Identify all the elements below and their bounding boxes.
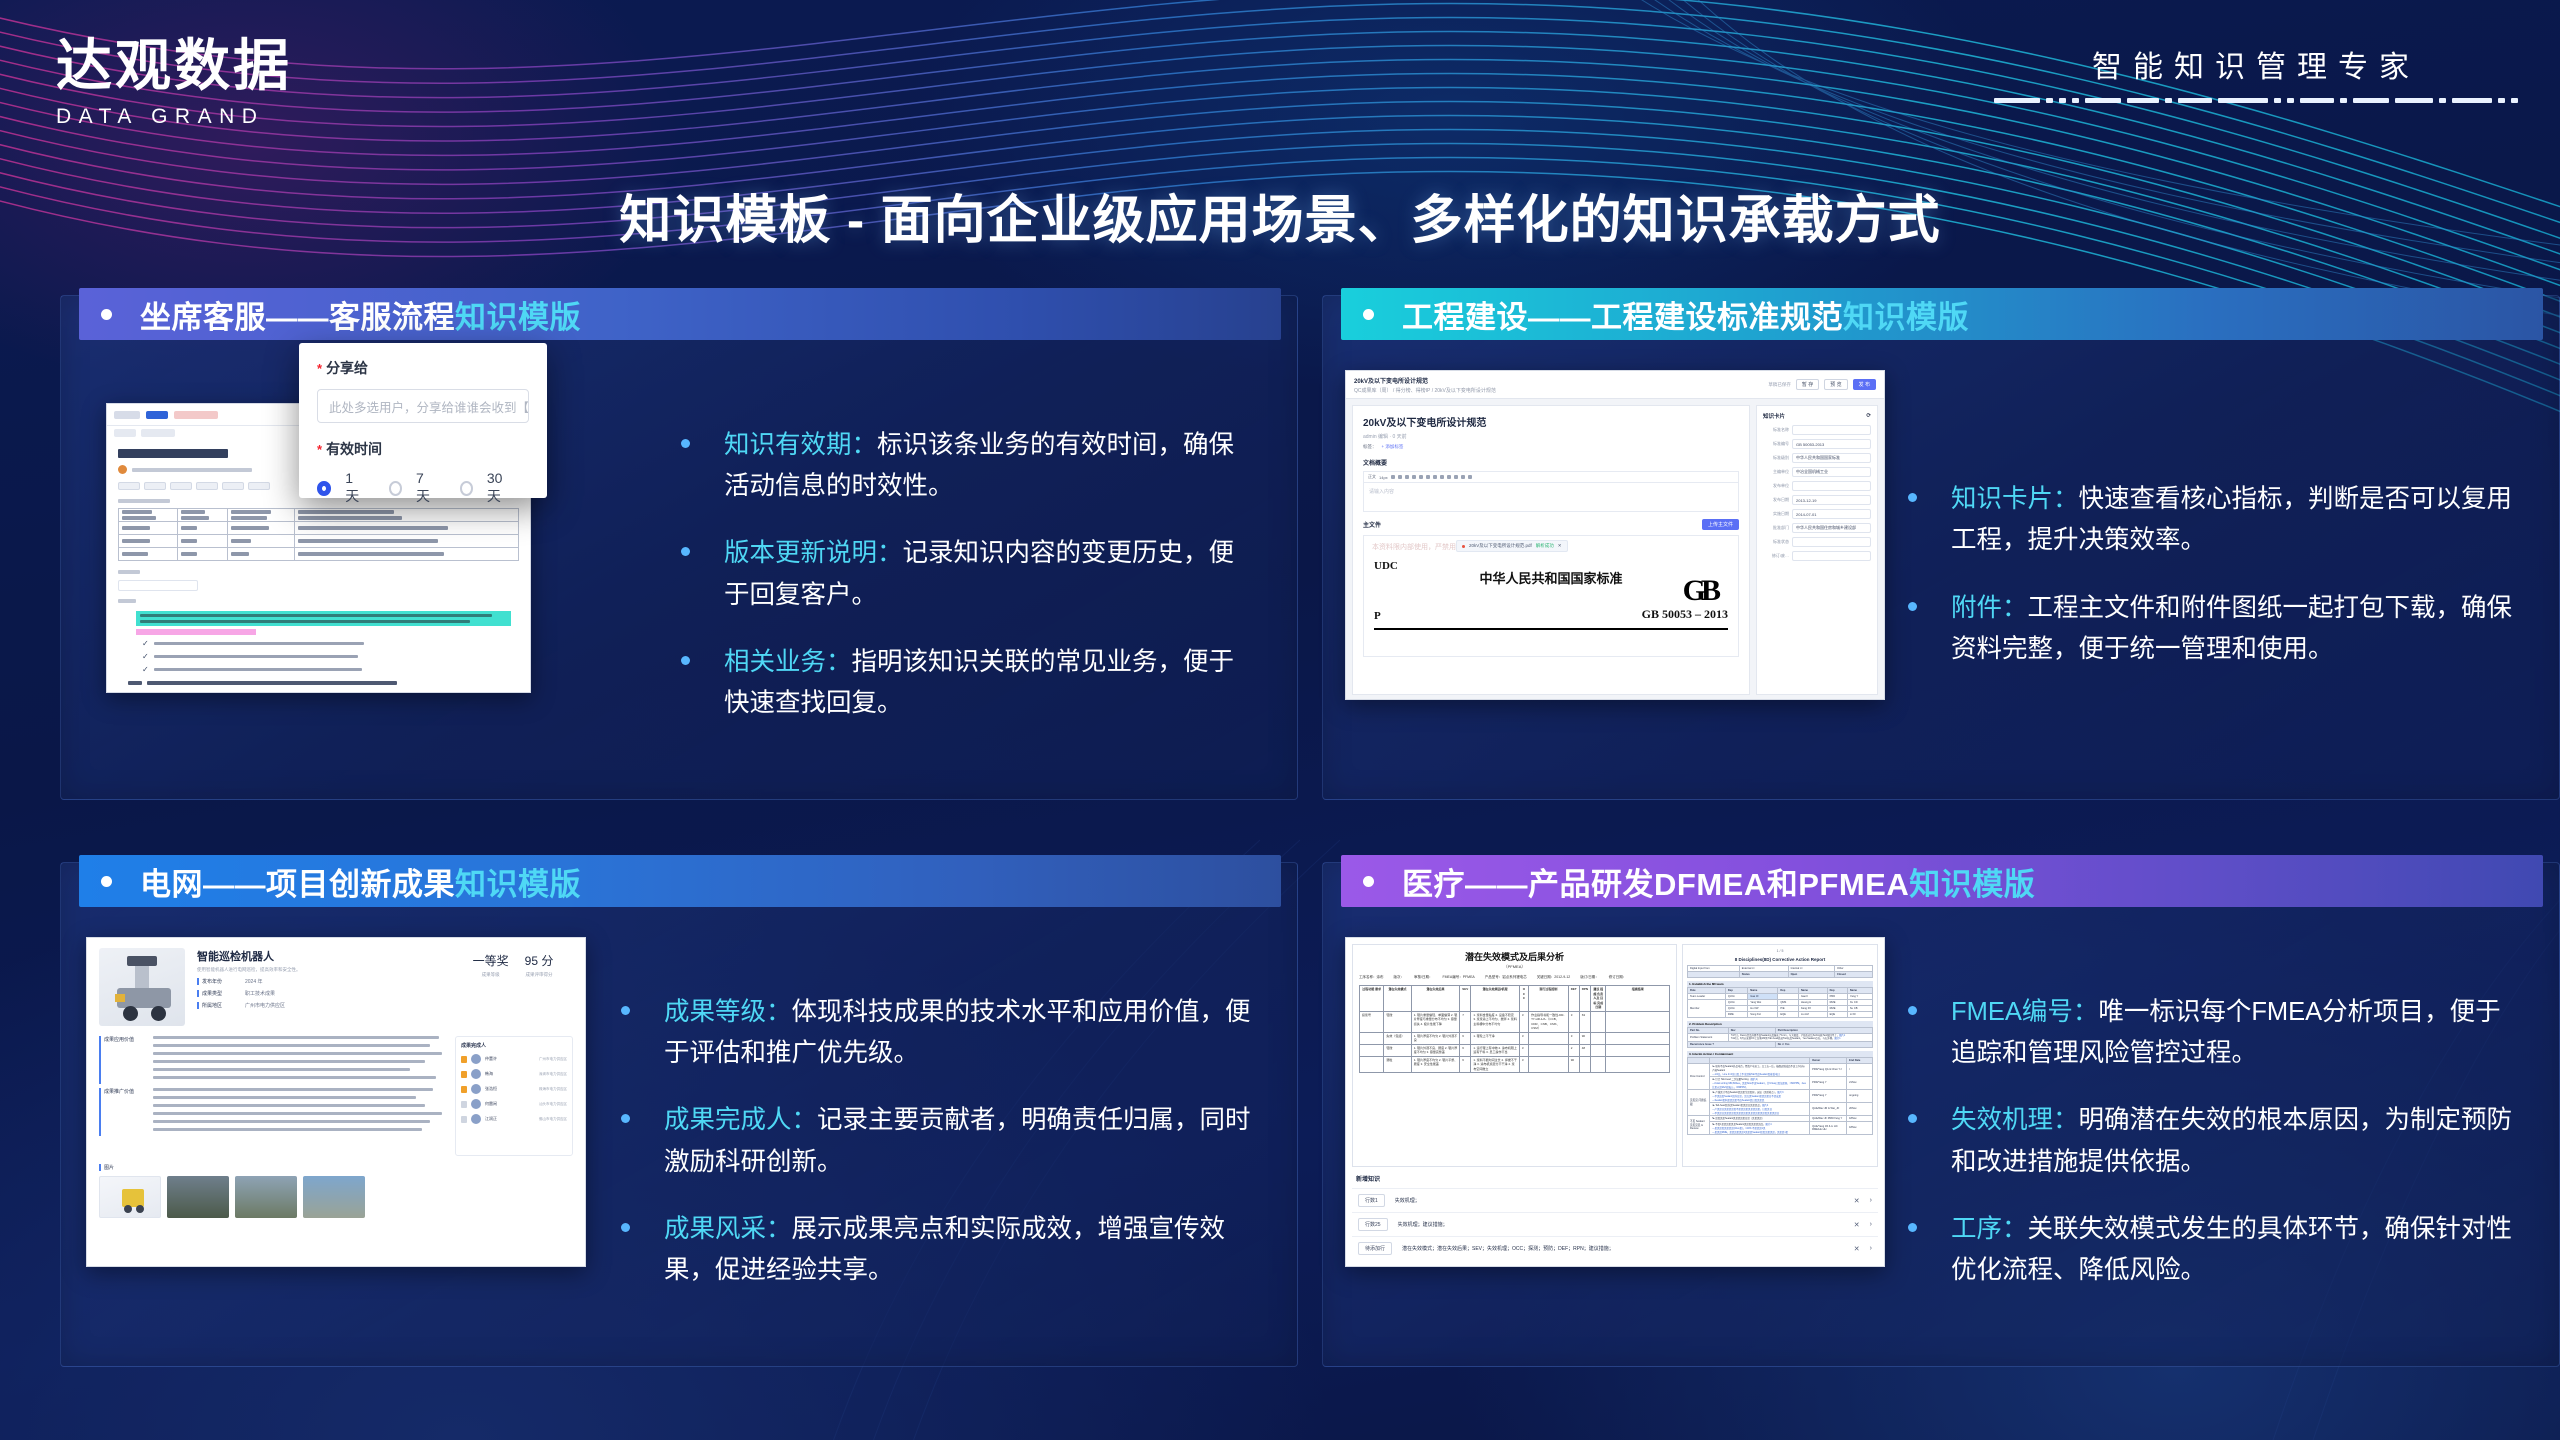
rank-badge-icon <box>461 1116 467 1123</box>
contributor-org: 汕头市电力供应区 <box>539 1102 567 1107</box>
duration-radio-group[interactable]: 1 天 7 天 30 天 <box>317 470 529 506</box>
panel-2-bullets: 知识卡片：快速查看核心指标，判断是否可以复用工程，提升决策效率。 附件：工程主文… <box>1908 348 2559 801</box>
panel-seat-service: 坐席客服——客服流程知识模版 <box>60 295 1298 800</box>
contributor-row: 何雷闲汕头市电力供应区 <box>461 1099 567 1109</box>
remove-row-icon[interactable]: ✕ <box>1854 1197 1860 1205</box>
achievement-title: 智能巡检机器人 <box>197 948 441 964</box>
highlighted-paragraph <box>136 611 511 626</box>
panel-2-screenshot: 20kV及以下变电所设计规范 QC成果库（周） / 得分榜、得榜IP / 20k… <box>1323 348 1908 801</box>
toolbar-table-icon[interactable] <box>1454 475 1458 479</box>
row-value: 潜在失效模式；潜在失效后果；SEV；失效机理；OCC；探测；预防；DEF；RPN… <box>1402 1245 1844 1252</box>
robot-photo <box>99 948 185 1026</box>
avatar <box>471 1114 481 1124</box>
rank-badge-icon <box>461 1086 467 1093</box>
radio-1day-label[interactable]: 1 天 <box>345 470 367 506</box>
bullet-item: 知识有效期：标识该条业务的有效时间，确保活动信息的时效性。 <box>681 425 1251 508</box>
radio-1day-icon[interactable] <box>317 481 331 496</box>
field-value[interactable]: 中冶全国机械工业 <box>1792 467 1871 477</box>
panel-power-grid: 电网——项目创新成果知识模版 智能巡检机器人 使用智能机器人进行电网巡检，提 <box>60 862 1298 1367</box>
knowledge-card-title: 知识卡片 <box>1763 412 1785 420</box>
remove-row-icon[interactable]: ✕ <box>1854 1221 1860 1229</box>
meta-value: 2024 年 <box>245 978 263 985</box>
highlighted-paragraph-pink <box>136 629 256 635</box>
pdf-category-letter: P <box>1374 610 1381 622</box>
toolbar-strike-icon[interactable] <box>1412 475 1416 479</box>
add-knowledge-title: 新增知识 <box>1356 1174 1878 1183</box>
rank-badge-icon <box>461 1101 467 1108</box>
duration-label: * 有效时间 <box>317 439 529 459</box>
panel-2-header-bullet-icon <box>1363 309 1374 320</box>
bullet-item: 工序：关联失效模式发生的具体环节，确保针对性优化流程、降低风险。 <box>1908 1209 2525 1292</box>
avatar <box>471 1069 481 1079</box>
toolbar-align-icon[interactable] <box>1440 475 1444 479</box>
toolbar-underline-icon[interactable] <box>1405 475 1409 479</box>
contributor-name: 仲董许 <box>485 1056 497 1062</box>
pfmea-meta: 工序名称：涂布版次： 审核/日期：FMEA编号：PFMEA 产品型号：铝点系列锂… <box>1359 975 1670 980</box>
bullet-item: FMEA编号：唯一标识每个FMEA分析项目，便于追踪和管理风险管控过程。 <box>1908 992 2525 1075</box>
bullet-item: 附件：工程主文件和附件图纸一起打包下载，确保资料完整，便于统一管理和使用。 <box>1908 588 2519 671</box>
row-tag[interactable]: 行数25 <box>1358 1218 1388 1231</box>
value-block: 成果应用价值 <box>99 1036 445 1084</box>
grade-value: 一等奖 <box>473 952 509 969</box>
8d-action-table: OwnerEnd Date Flow Control1▸ 现有不良Sealant… <box>1687 1057 1873 1135</box>
bullet-dot-icon <box>1908 1223 1917 1232</box>
contributor-row: 韩海深圳市电力供应区 <box>461 1069 567 1079</box>
field-value[interactable]: 2013-12-19 <box>1792 495 1871 505</box>
8d-report-sheet: 1 / 5 8 Disciplines(8D) Corrective Actio… <box>1682 944 1878 1167</box>
doc-title-placeholder <box>118 449 228 458</box>
meta-value: 广州市电力供应区 <box>245 1002 285 1009</box>
field-value[interactable] <box>1792 537 1871 547</box>
bullet-dot-icon <box>1908 1006 1917 1015</box>
promotion-block: 成果推广价值 <box>99 1088 445 1136</box>
field-value[interactable]: GB 50053-2013 <box>1792 439 1871 449</box>
8d-problem-table: Part No.RevPart Description Problem Stat… <box>1687 1027 1873 1048</box>
knowledge-row: 行数25 失效机理；建议措施； ✕ › <box>1352 1212 1878 1236</box>
panel-4-header: 医疗——产品研发DFMEA和PFMEA知识模版 <box>1341 855 2543 907</box>
panel-1-header: 坐席客服——客服流程知识模版 <box>79 288 1281 340</box>
panel-2-header: 工程建设——工程建设标准规范知识模版 <box>1341 288 2543 340</box>
contributor-org: 珠海市电力供应区 <box>539 1087 567 1092</box>
page-indicator[interactable]: 1 / 5 <box>1687 949 1873 953</box>
bullet-dot-icon <box>1908 1114 1917 1123</box>
add-tag-button[interactable]: + 添加标签 <box>1382 444 1404 450</box>
table-row: 轻微 1. 辊片外观不良、颗度 2. 辊片厚度不均匀 3. 容量完整差6 1. … <box>1360 1044 1670 1056</box>
bullet-dot-icon <box>621 1114 630 1123</box>
field-value[interactable]: 中华人民共和国住房和城乡建设部 <box>1792 523 1871 533</box>
panel-engineering: 工程建设——工程建设标准规范知识模版 20kV及以下变电所设计规范 QC成果库（… <box>1322 295 2560 800</box>
tagline-decoration <box>1994 98 2518 103</box>
panel-1-bullets: 知识有效期：标识该条业务的有效时间，确保活动信息的时效性。 版本更新说明：记录知… <box>681 348 1297 801</box>
score-label: 成果评审得分 <box>525 972 554 978</box>
toolbar-image-icon[interactable] <box>1447 475 1451 479</box>
bullet-dot-icon <box>1908 493 1917 502</box>
tagline-block: 智能知识管理专家 <box>1994 42 2518 103</box>
toolbar-emoji-icon[interactable] <box>1468 475 1472 479</box>
required-asterisk-icon-2: * <box>317 442 322 457</box>
bullet-dot-icon <box>1908 602 1917 611</box>
radio-30day-icon[interactable] <box>460 481 473 496</box>
document-meta: admin 编辑 · 0 天前 <box>1363 433 1739 440</box>
field-label: 实施日期 <box>1763 511 1789 517</box>
rank-badge-icon <box>461 1071 467 1078</box>
radio-7day-icon[interactable] <box>389 481 402 496</box>
contributor-name: 江润正 <box>485 1116 497 1122</box>
8d-team-table: RoleDepNameDepNameDepName Team LeaderQA'… <box>1687 987 1873 1018</box>
field-label: 主编单位 <box>1763 469 1789 475</box>
bullet-dot-icon <box>681 547 690 556</box>
contributor-org: 佛山市电力供应区 <box>539 1117 567 1122</box>
bullet-item: 成果风采：展示成果亮点和实际成效，增强宣传效果，促进经验共享。 <box>621 1209 1251 1292</box>
contributor-row: 江润正佛山市电力供应区 <box>461 1114 567 1124</box>
version-history-table <box>118 508 519 561</box>
bullet-item: 成果完成人：记录主要贡献者，明确责任归属，同时激励科研创新。 <box>621 1100 1251 1183</box>
8d-report-title: 8 Disciplines(8D) Corrective Action Repo… <box>1687 957 1873 962</box>
panel-medical-fmea: 医疗——产品研发DFMEA和PFMEA知识模版 潜在失效模式及后果分析 （PFM… <box>1322 862 2560 1367</box>
bullet-dot-icon <box>621 1223 630 1232</box>
document-heading: 20kV及以下变电所设计规范 <box>1363 414 1739 429</box>
share-to-label: * 分享给 <box>317 358 529 378</box>
table-row: 投浆号轻微 1. 辊片重量偏轻、单面偏薄 2. 辊片厚度与重量分布不均匀 3. … <box>1360 1011 1670 1032</box>
achievement-subtitle: 使用智能机器人进行电网巡检，提高效率和安全性。 <box>197 967 441 973</box>
meta-label: 所属地区 <box>197 1002 237 1009</box>
block-lines <box>153 1036 445 1084</box>
toolbar-font-size[interactable]: 14px <box>1379 475 1388 480</box>
bullet-item: 相关业务：指明该知识关联的常见业务，便于快速查找回复。 <box>681 642 1251 725</box>
contributor-org: 广州市电力供应区 <box>539 1057 567 1062</box>
brand-name-en: DATA GRAND <box>56 105 292 129</box>
gb-logo-icon: GB <box>1683 574 1716 608</box>
block-label: 成果应用价值 <box>99 1036 145 1084</box>
panel-1-header-bullet-icon <box>101 309 112 320</box>
8d-header-table: Digital Input fromExternal ☑Internal ☑Ot… <box>1687 965 1873 978</box>
contributor-org: 深圳市电力供应区 <box>539 1072 567 1077</box>
share-dialog[interactable]: * 分享给 此处多选用户，分享给谁谁会收到【知... * 有效时间 1 天 7 … <box>299 343 547 498</box>
editor-doc-title: 20kV及以下变电所设计规范 <box>1354 376 1496 385</box>
knowledge-row: 待添加行 潜在失效模式；潜在失效后果；SEV；失效机理；OCC；探测；预防；DE… <box>1352 1236 1878 1260</box>
toolbar-italic-icon[interactable] <box>1398 475 1402 479</box>
panel-4-screenshot: 潜在失效模式及后果分析 （PFMEA） 工序名称：涂布版次： 审核/日期：FME… <box>1323 915 1908 1368</box>
contributor-name: 韩海 <box>485 1071 493 1077</box>
panel-2-header-text: 工程建设——工程建设标准规范知识模版 <box>1402 292 1969 337</box>
meta-label: 成果类型 <box>197 990 237 997</box>
editor-document-pane: 20kV及以下变电所设计规范 admin 编辑 · 0 天前 标签： + 添加标… <box>1352 405 1750 695</box>
fmea-document-page: 潜在失效模式及后果分析 （PFMEA） 工序名称：涂布版次： 审核/日期：FME… <box>1345 937 1885 1267</box>
save-draft-button[interactable]: 暂 存 <box>1796 379 1819 390</box>
grade-label: 成果等级 <box>473 972 509 978</box>
editor-breadcrumb: QC成果库（周） / 得分榜、得榜IP / 20kV及以下变电所设计规范 <box>1354 387 1496 394</box>
bullet-item: 知识卡片：快速查看核心指标，判断是否可以复用工程，提升决策效率。 <box>1908 479 2519 562</box>
rich-text-toolbar[interactable]: 正文 14px <box>1363 471 1739 482</box>
pdf-divider <box>1374 628 1728 630</box>
block-label: 成果推广价值 <box>99 1088 145 1136</box>
toolbar-bold-icon[interactable] <box>1391 475 1395 479</box>
mainfile-section-title: 主文件 <box>1363 520 1381 529</box>
brand-logo: 达观数据 DATA GRAND <box>56 38 292 129</box>
table-row: 颗粒 1. 辊片厚度不均匀 2. 辊片平整、颗度 3. 安全性能差6 1. 浆料… <box>1360 1056 1670 1073</box>
contributor-name: 何雷闲 <box>485 1101 497 1107</box>
rank-badge-icon <box>461 1056 467 1063</box>
toolbar-highlight-icon[interactable] <box>1426 475 1430 479</box>
contributors-card: 成果完成人 仲董许广州市电力供应区 韩海深圳市电力供应区 张浩恒珠海市电力供应区… <box>455 1036 573 1156</box>
table-row: 失效（包括） 1. 辊片厚度不均匀 2. 辊片外观不良6 1. 辊轮上不干净3 … <box>1360 1032 1670 1044</box>
knowledge-row: 行数1 失效机理； ✕ › <box>1352 1188 1878 1212</box>
toolbar-font-style[interactable]: 正文 <box>1368 474 1376 480</box>
required-asterisk-icon: * <box>317 361 322 376</box>
pfmea-title: 潜在失效模式及后果分析 <box>1359 950 1670 963</box>
expand-row-icon[interactable]: › <box>1870 1197 1872 1204</box>
field-value[interactable] <box>1792 481 1871 491</box>
pfmea-table: 过程功能 要求 潜在失效模式 潜在失效后果 SEV 潜在失效原因/机理 O C … <box>1359 985 1670 1073</box>
bullet-item: 版本更新说明：记录知识内容的变更历史，便于回复客户。 <box>681 533 1251 616</box>
gallery-image-substation-1[interactable] <box>167 1176 229 1218</box>
field-label: 发布日期 <box>1763 497 1789 503</box>
pdf-standard-title: 中华人民共和国国家标准 <box>1374 568 1728 587</box>
gallery-image-substation-3[interactable] <box>303 1176 365 1218</box>
avatar <box>471 1084 481 1094</box>
attached-file-name: 20kV及以下变电所设计规范.pdf <box>1469 543 1532 549</box>
contributor-row: 仲董许广州市电力供应区 <box>461 1054 567 1064</box>
row-value: 失效机理； <box>1395 1197 1844 1204</box>
block-lines <box>153 1088 445 1136</box>
field-label: 标准编号 <box>1763 441 1789 447</box>
expand-row-icon[interactable]: › <box>1870 1245 1872 1252</box>
bullet-item: 失效机理：明确潜在失效的根本原因，为制定预防和改进措施提供依据。 <box>1908 1100 2525 1183</box>
tagline-text: 智能知识管理专家 <box>1994 42 2518 86</box>
bullet-dot-icon <box>681 439 690 448</box>
publish-button[interactable]: 发 布 <box>1853 379 1876 390</box>
editor-topbar: 20kV及以下变电所设计规范 QC成果库（周） / 得分榜、得榜IP / 20k… <box>1346 371 1884 399</box>
panel-4-bullets: FMEA编号：唯一标识每个FMEA分析项目，便于追踪和管理风险管控过程。 失效机… <box>1908 915 2559 1368</box>
field-label: 标准名称 <box>1763 427 1789 433</box>
field-value[interactable]: 中华人民共和国国家标准 <box>1792 453 1871 463</box>
panel-3-bullets: 成果等级：体现科技成果的技术水平和应用价值，便于评估和推广优先级。 成果完成人：… <box>621 915 1297 1368</box>
radio-30day-label[interactable]: 30 天 <box>487 470 515 506</box>
meta-label: 发布年份 <box>197 978 237 985</box>
table-header-row: 过程功能 要求 潜在失效模式 潜在失效后果 SEV 潜在失效原因/机理 O C … <box>1360 986 1670 1012</box>
autosave-status: 草稿已保存 <box>1768 382 1791 388</box>
field-label: 标准级别 <box>1763 455 1789 461</box>
editor-content-area[interactable]: 请输入内容 <box>1363 482 1739 512</box>
pdf-preview: 本资料限内部使用，严禁用于商业。 20kV及以下变电所设计规范.pdf 解析成功… <box>1363 535 1739 657</box>
field-value[interactable] <box>1792 551 1871 561</box>
field-value[interactable]: 2014-07-01 <box>1792 509 1871 519</box>
pfmea-subtitle: （PFMEA） <box>1359 964 1670 970</box>
row-tag[interactable]: 待添加行 <box>1358 1242 1392 1255</box>
row-tag[interactable]: 行数1 <box>1358 1194 1385 1207</box>
remove-file-icon[interactable]: ✕ <box>1558 543 1562 549</box>
field-label: 批准部门 <box>1763 525 1789 531</box>
summary-section-title: 文档概要 <box>1363 458 1739 467</box>
knowledge-card-panel: 知识卡片 ⟳ 标准名称 标准编号GB 50053-2013 标准级别中华人民共和… <box>1756 405 1878 695</box>
pdf-file-icon <box>1462 545 1465 548</box>
score-value: 95 分 <box>525 952 554 969</box>
row-value: 失效机理；建议措施； <box>1398 1221 1844 1228</box>
panel-4-header-text: 医疗——产品研发DFMEA和PFMEA知识模版 <box>1402 859 2035 904</box>
gallery-image-diagram[interactable] <box>99 1176 161 1218</box>
panel-3-header-bullet-icon <box>101 876 112 887</box>
bullet-item: 成果等级：体现科技成果的技术水平和应用价值，便于评估和推广优先级。 <box>621 992 1251 1075</box>
expand-row-icon[interactable]: › <box>1870 1221 1872 1228</box>
bullet-dot-icon <box>621 1006 630 1015</box>
bullet-dot-icon <box>681 656 690 665</box>
field-label: 发布单位 <box>1763 483 1789 489</box>
remove-row-icon[interactable]: ✕ <box>1854 1245 1860 1253</box>
field-value[interactable] <box>1792 425 1871 435</box>
gallery-label: 图片 <box>99 1164 573 1171</box>
preview-button[interactable]: 预 览 <box>1824 379 1847 390</box>
toolbar-color-icon[interactable] <box>1419 475 1423 479</box>
tag-label: 标签： <box>1363 444 1377 450</box>
brand-name-cn: 达观数据 <box>56 38 292 97</box>
toolbar-link-icon[interactable] <box>1461 475 1465 479</box>
pfmea-sheet: 潜在失效模式及后果分析 （PFMEA） 工序名称：涂布版次： 审核/日期：FME… <box>1352 944 1677 1167</box>
field-label: 标准状态 <box>1763 539 1789 545</box>
innovation-achievement-page: 智能巡检机器人 使用智能机器人进行电网巡检，提高效率和安全性。 发布年份2024… <box>86 937 586 1267</box>
refresh-icon[interactable]: ⟳ <box>1866 413 1871 419</box>
avatar <box>471 1054 481 1064</box>
gallery-image-substation-2[interactable] <box>235 1176 297 1218</box>
panel-1-screenshot: ✓ ✓ ✓ * 分享给 此处多选用户，分享给谁谁会收到【知... <box>61 348 681 801</box>
share-user-input[interactable]: 此处多选用户，分享给谁谁会收到【知... <box>317 389 529 423</box>
page-title: 知识模板 - 面向企业级应用场景、多样化的知识承载方式 <box>0 178 2560 253</box>
contributor-row: 张浩恒珠海市电力供应区 <box>461 1084 567 1094</box>
panel-3-header: 电网——项目创新成果知识模版 <box>79 855 1281 907</box>
panel-1-header-text: 坐席客服——客服流程知识模版 <box>140 292 581 337</box>
meta-value: 职工技术成果 <box>245 990 275 997</box>
photo-gallery <box>99 1176 573 1218</box>
panel-4-header-bullet-icon <box>1363 876 1374 887</box>
attached-file-pill[interactable]: 20kV及以下变电所设计规范.pdf 解析成功 ✕ <box>1456 540 1568 552</box>
contributors-title: 成果完成人 <box>461 1042 567 1049</box>
panel-3-header-text: 电网——项目创新成果知识模版 <box>140 859 581 904</box>
radio-7day-label[interactable]: 7 天 <box>416 470 438 506</box>
standard-document-editor: 20kV及以下变电所设计规范 QC成果库（周） / 得分榜、得榜IP / 20k… <box>1345 370 1885 700</box>
toolbar-list-icon[interactable] <box>1433 475 1437 479</box>
panel-3-screenshot: 智能巡检机器人 使用智能机器人进行电网巡检，提高效率和安全性。 发布年份2024… <box>61 915 621 1368</box>
pdf-standard-code: GB 50053 – 2013 <box>1642 607 1728 622</box>
field-label: 修订/废… <box>1763 553 1789 559</box>
upload-mainfile-button[interactable]: 上传主文件 <box>1702 519 1739 530</box>
contributor-name: 张浩恒 <box>485 1086 497 1092</box>
avatar <box>471 1099 481 1109</box>
parse-status: 解析成功 <box>1536 543 1554 549</box>
